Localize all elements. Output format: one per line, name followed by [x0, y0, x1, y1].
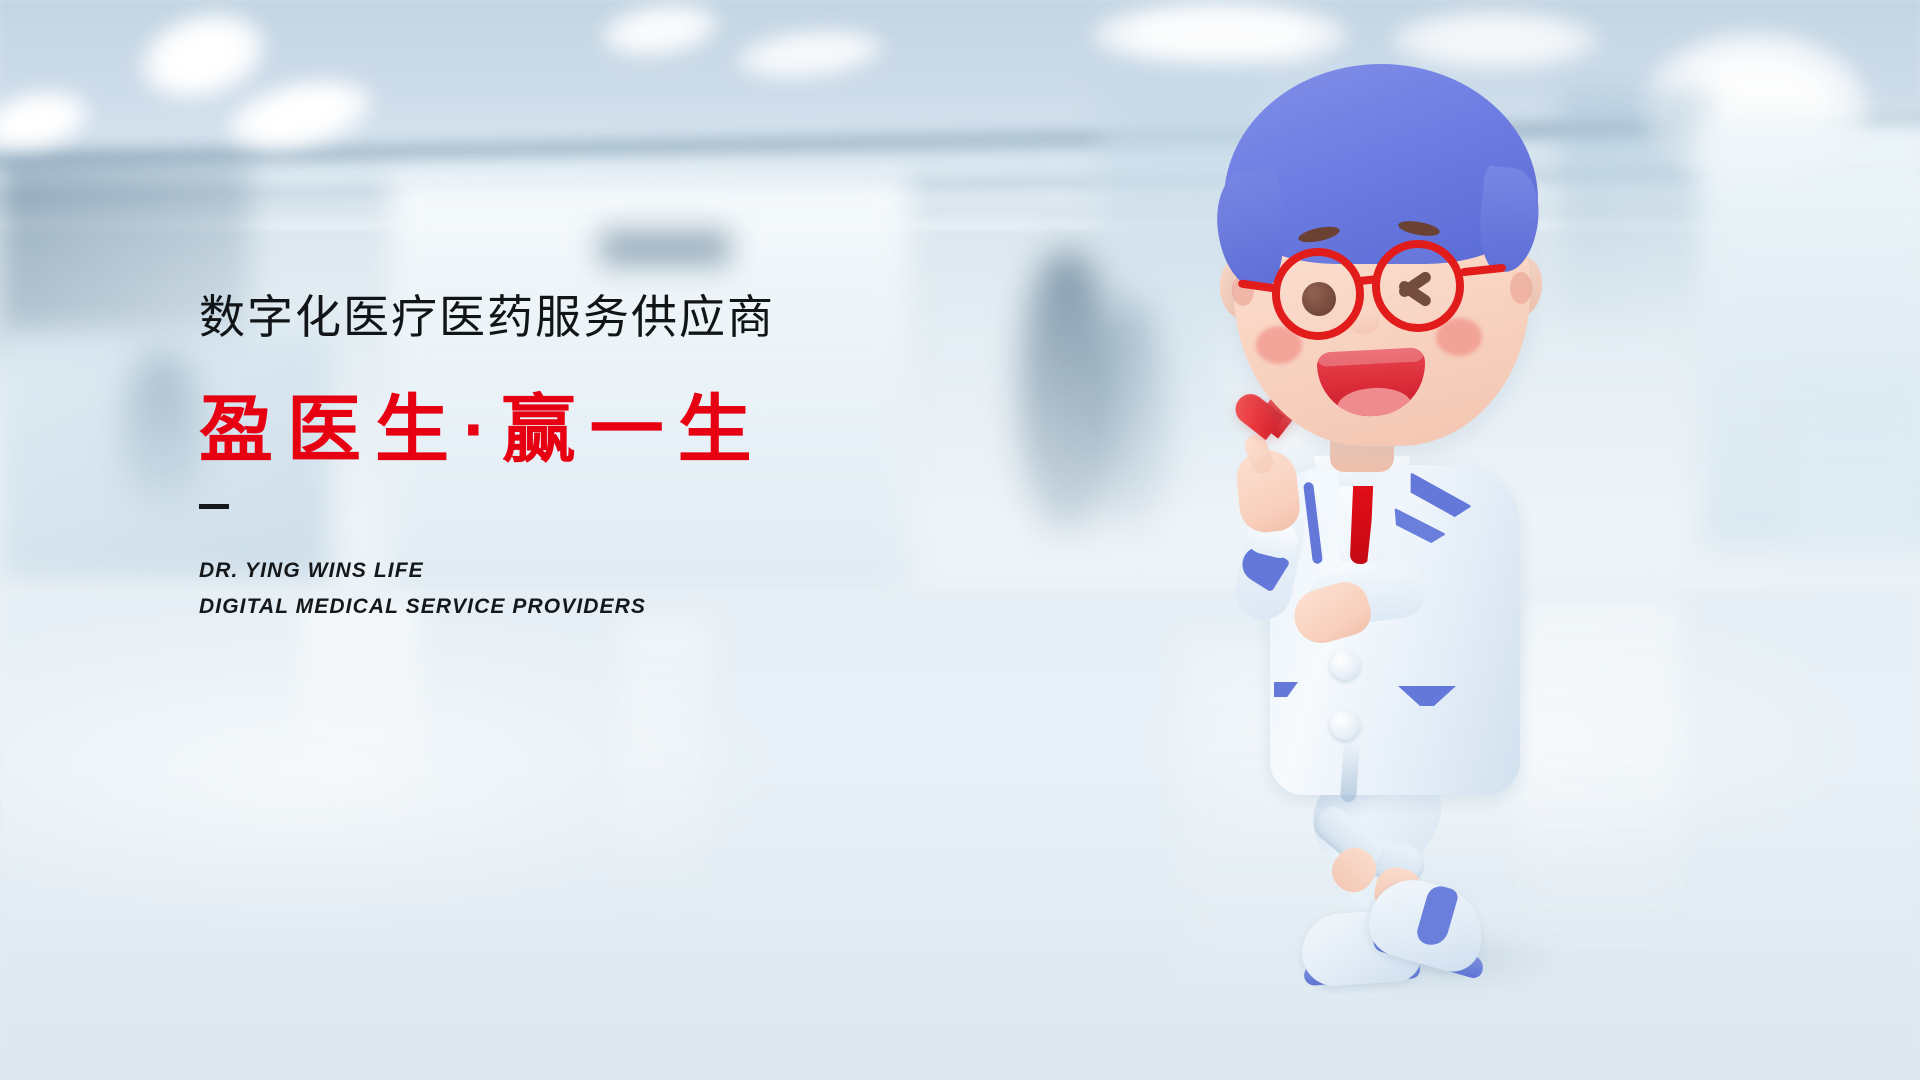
background-figure: [125, 355, 200, 505]
floor-reflection: [620, 620, 710, 920]
background-figure: [1095, 300, 1165, 530]
coat-button: [1330, 710, 1360, 740]
background-sign: [600, 230, 730, 266]
ear-inner-right: [1510, 272, 1532, 304]
banner-title: 盈医生·赢一生: [199, 391, 959, 469]
banner-copy: 数字化医疗医药服务供应商 盈医生·赢一生 DR. YING WINS LIFE …: [199, 292, 959, 626]
tongue: [1336, 386, 1412, 419]
subtitle-line-1: DR. YING WINS LIFE: [199, 553, 959, 589]
divider-rule: [199, 504, 229, 509]
banner-subtitle: DR. YING WINS LIFE DIGITAL MEDICAL SERVI…: [199, 553, 959, 625]
banner-headline: 数字化医疗医药服务供应商: [199, 292, 959, 343]
glasses-lens-left: [1272, 248, 1364, 340]
hero-banner: 数字化医疗医药服务供应商 盈医生·赢一生 DR. YING WINS LIFE …: [0, 0, 1920, 1080]
glasses-lens-right: [1372, 240, 1464, 332]
doctor-mascot: [1190, 50, 1690, 1050]
subtitle-line-2: DIGITAL MEDICAL SERVICE PROVIDERS: [199, 589, 959, 625]
floor-reflection: [300, 600, 420, 830]
coat-button: [1330, 650, 1360, 680]
